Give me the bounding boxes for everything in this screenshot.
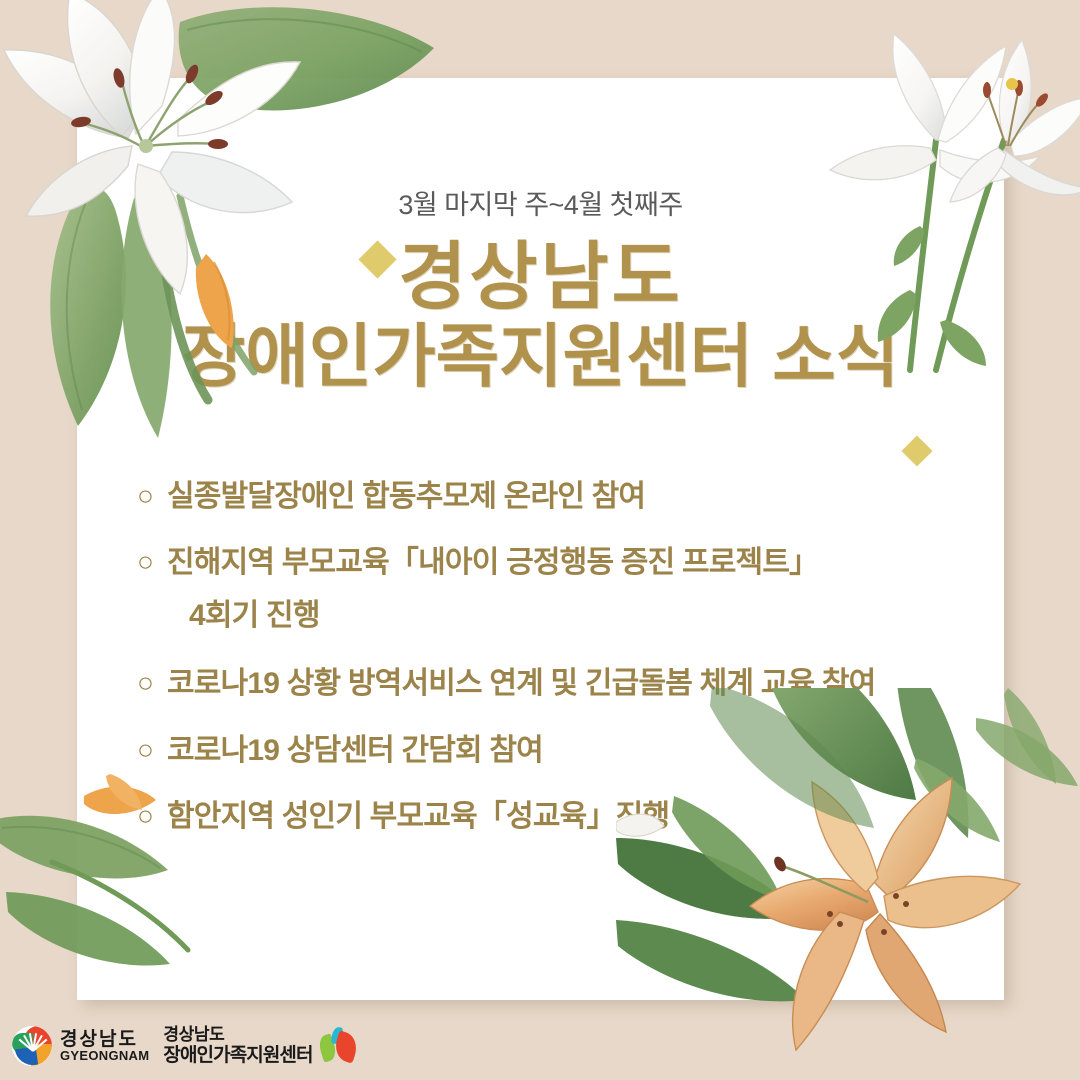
- circle-bullet-icon: ○: [137, 732, 167, 768]
- circle-bullet-icon: ○: [137, 798, 167, 834]
- title-line-1: 경상남도: [77, 238, 1004, 316]
- list-item-label: 함안지역 성인기 부모교육「성교육」진행: [167, 798, 669, 836]
- poster-title: 경상남도 장애인가족지원센터 소식: [77, 238, 1004, 398]
- circle-bullet-icon: ○: [137, 478, 167, 514]
- poster-canvas: 3월 마지막 주~4월 첫째주 경상남도 장애인가족지원센터 소식 ○ 실종발달…: [0, 0, 1080, 1080]
- title-line-2: 장애인가족지원센터 소식: [77, 316, 1004, 397]
- footer-logos: 경상남도 GYEONGNAM 경상남도 장애인가족지원센터: [12, 1018, 359, 1074]
- support-center-logo: 경상남도 장애인가족지원센터: [163, 1025, 358, 1066]
- news-list: ○ 실종발달장애인 합동추모제 온라인 참여 ○ 진해지역 부모교육「내아이 긍…: [137, 478, 980, 864]
- list-item: ○ 함안지역 성인기 부모교육「성교육」진행: [137, 798, 980, 836]
- gyeongnam-korean-label: 경상남도: [60, 1030, 149, 1049]
- list-item-label: 코로나19 상황 방역서비스 연계 및 긴급돌봄 체계 교육 참여: [167, 665, 875, 703]
- list-item-label: 코로나19 상담센터 간담회 참여: [167, 732, 543, 770]
- list-item: ○ 코로나19 상담센터 간담회 참여: [137, 732, 980, 770]
- support-center-leaf-icon: [317, 1027, 359, 1067]
- gyeongnam-english-label: GYEONGNAM: [60, 1049, 149, 1062]
- list-item-label: 진해지역 부모교육「내아이 긍정행동 증진 프로젝트」: [167, 544, 818, 582]
- center-label-line-2: 장애인가족지원센터: [163, 1045, 312, 1067]
- list-item-label: 실종발달장애인 합동추모제 온라인 참여: [167, 478, 645, 516]
- list-item-label: 4회기 진행: [167, 597, 320, 635]
- diamond-accent-icon: [901, 435, 932, 466]
- date-range-label: 3월 마지막 주~4월 첫째주: [77, 183, 1004, 222]
- gyeongnam-emblem-icon: [12, 1026, 52, 1066]
- gyeongnam-province-logo: 경상남도 GYEONGNAM: [12, 1026, 149, 1066]
- circle-bullet-icon: ○: [137, 665, 167, 701]
- center-label-line-1: 경상남도: [163, 1025, 312, 1044]
- list-item: ○ 실종발달장애인 합동추모제 온라인 참여: [137, 478, 980, 516]
- circle-bullet-icon: ○: [137, 544, 167, 580]
- gyeongnam-wordmark: 경상남도 GYEONGNAM: [60, 1030, 149, 1062]
- support-center-wordmark: 경상남도 장애인가족지원센터: [163, 1025, 312, 1066]
- list-item-continuation: 4회기 진행: [137, 597, 980, 635]
- poster-content: 3월 마지막 주~4월 첫째주 경상남도 장애인가족지원센터 소식 ○ 실종발달…: [77, 78, 1004, 1000]
- list-item: ○ 진해지역 부모교육「내아이 긍정행동 증진 프로젝트」: [137, 544, 980, 582]
- list-item: ○ 코로나19 상황 방역서비스 연계 및 긴급돌봄 체계 교육 참여: [137, 665, 980, 703]
